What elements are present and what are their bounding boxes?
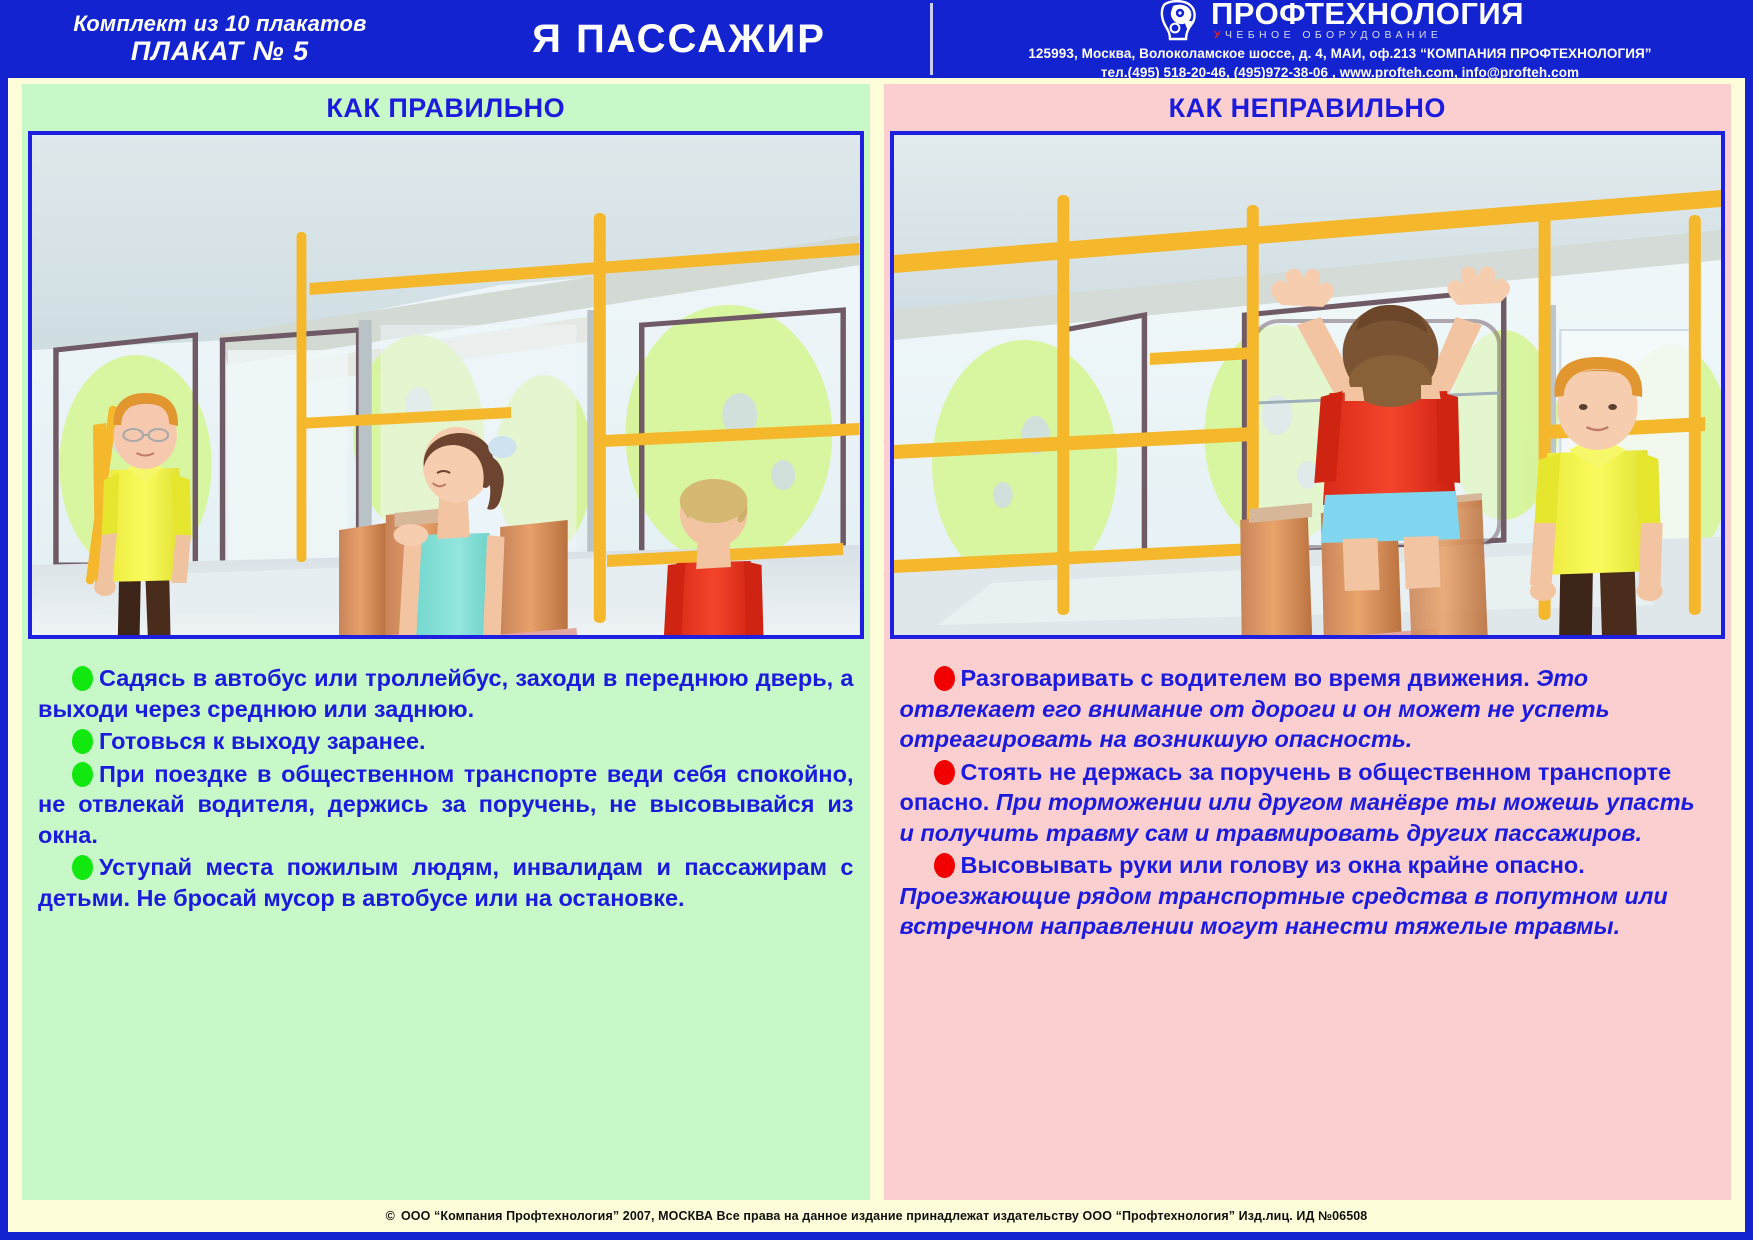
rule-text: Садясь в автобус или троллейбус, заходи … <box>38 665 854 722</box>
poster-number-label: ПЛАКАТ № 5 <box>10 36 430 66</box>
red-bullet-icon <box>934 760 955 785</box>
header-divider <box>930 3 933 75</box>
rule-text: Уступай места пожилым людям, инвалидам и… <box>38 854 854 911</box>
rule-text-emphasis: Проезжающие рядом транспортные средства … <box>900 883 1668 940</box>
illustration-incorrect <box>890 131 1726 639</box>
rule-text: Высовывать руки или голову из окна крайн… <box>961 852 1585 878</box>
column-incorrect: КАК НЕПРАВИЛЬНО <box>884 84 1732 1200</box>
hand-with-gear-logo-icon <box>1156 0 1202 43</box>
brand-subtitle: УЧЕБНОЕ ОБОРУДОВАНИЕ <box>1211 30 1524 41</box>
brand-text-block: ПРОФТЕХНОЛОГИЯ УЧЕБНОЕ ОБОРУДОВАНИЕ <box>1211 0 1524 41</box>
columns-container: КАК ПРАВИЛЬНО <box>8 78 1745 1200</box>
column-correct: КАК ПРАВИЛЬНО <box>22 84 870 1200</box>
copyright-text: ООО “Компания Профтехнология” 2007, МОСК… <box>401 1209 1367 1223</box>
heading-incorrect: КАК НЕПРАВИЛЬНО <box>884 84 1732 131</box>
rule-text: Разговаривать с водителем во время движе… <box>961 665 1530 691</box>
rules-incorrect: Разговаривать с водителем во время движе… <box>884 639 1732 954</box>
green-bullet-icon <box>72 729 93 754</box>
green-bullet-icon <box>72 855 93 880</box>
illustration-correct <box>28 131 864 639</box>
header-left-block: Комплект из 10 плакатов ПЛАКАТ № 5 <box>0 12 430 67</box>
rule-text: Готовься к выходу заранее. <box>99 728 426 754</box>
rule-item: При поездке в общественном транспорте ве… <box>38 759 854 851</box>
brand-subtitle-rest: ЧЕБНОЕ ОБОРУДОВАНИЕ <box>1225 29 1442 41</box>
green-bullet-icon <box>72 762 93 787</box>
poster-header: Комплект из 10 плакатов ПЛАКАТ № 5 Я ПАС… <box>0 0 1753 78</box>
heading-correct: КАК ПРАВИЛЬНО <box>22 84 870 131</box>
poster-set-label: Комплект из 10 плакатов <box>10 12 430 37</box>
company-address-line1: 125993, Москва, Волоколамское шоссе, д. … <box>935 45 1745 62</box>
green-bullet-icon <box>72 666 93 691</box>
page-title: Я ПАССАЖИР <box>430 17 928 62</box>
brand-name: ПРОФТЕХНОЛОГИЯ <box>1211 0 1524 29</box>
copyright-icon: © <box>386 1209 395 1223</box>
rule-item: Разговаривать с водителем во время движе… <box>900 663 1716 755</box>
brand-row: ПРОФТЕХНОЛОГИЯ УЧЕБНОЕ ОБОРУДОВАНИЕ <box>935 0 1745 43</box>
poster-root: Комплект из 10 плакатов ПЛАКАТ № 5 Я ПАС… <box>0 0 1753 1240</box>
rule-text: При поездке в общественном транспорте ве… <box>38 761 854 848</box>
rule-item: Высовывать руки или голову из окна крайн… <box>900 850 1716 942</box>
rule-text-emphasis: При торможении или другом манёвре ты мож… <box>900 789 1695 846</box>
rule-item: Стоять не держась за поручень в обществе… <box>900 757 1716 849</box>
rule-item: Садясь в автобус или троллейбус, заходи … <box>38 663 854 724</box>
brand-subtitle-accent: У <box>1214 29 1225 41</box>
poster-board: КАК ПРАВИЛЬНО <box>8 78 1745 1200</box>
rule-item: Готовься к выходу заранее. <box>38 726 854 757</box>
poster-footer: © ООО “Компания Профтехнология” 2007, МО… <box>8 1200 1745 1232</box>
header-right-block: ПРОФТЕХНОЛОГИЯ УЧЕБНОЕ ОБОРУДОВАНИЕ 1259… <box>935 0 1753 81</box>
red-bullet-icon <box>934 666 955 691</box>
red-bullet-icon <box>934 853 955 878</box>
rule-item: Уступай места пожилым людям, инвалидам и… <box>38 852 854 913</box>
rules-correct: Садясь в автобус или троллейбус, заходи … <box>22 639 870 925</box>
